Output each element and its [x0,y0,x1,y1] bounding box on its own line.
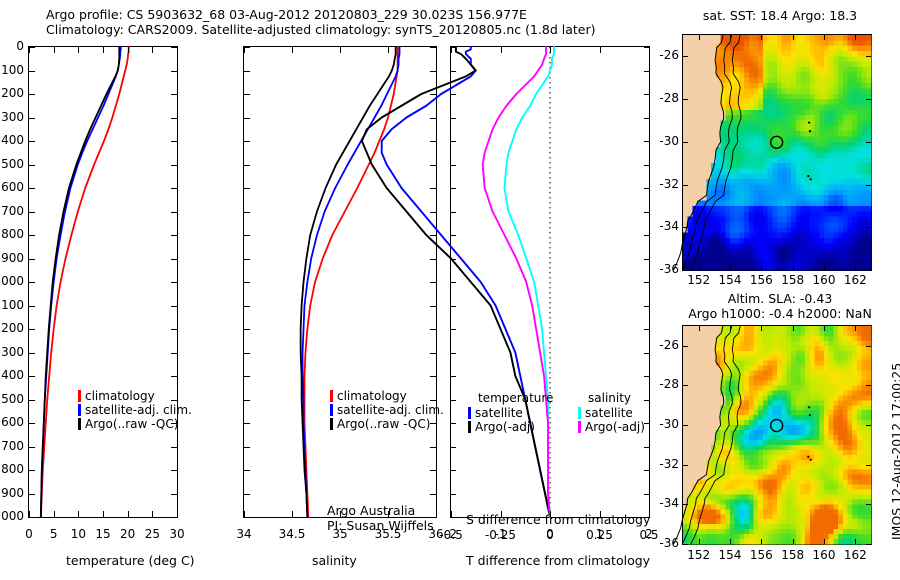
axis-tick-mark [244,306,250,307]
axis-tick-mark [600,511,601,517]
axis-tick-label: 34.5 [279,527,306,541]
axis-tick-label: 1900 [0,486,24,500]
axis-tick-mark [177,511,178,517]
axis-tick-mark [244,400,250,401]
axis-tick-mark [793,326,794,331]
axis-tick-mark [761,539,762,544]
axis-tick-mark [244,494,250,495]
axis-tick-mark [644,329,649,330]
axis-tick-mark [730,35,731,40]
axis-tick-mark [244,423,250,424]
axis-tick-mark [644,517,649,518]
axis-tick-mark [29,165,35,166]
axis-tick-mark [824,265,825,270]
axis-tick-mark [244,470,250,471]
axis-tick-mark [866,465,871,466]
axis-tick-mark [54,511,55,517]
axis-tick-mark [78,47,79,53]
axis-tick-label: -32 [659,457,679,471]
axis-tick-mark [793,35,794,40]
axis-tick-label: -1 [495,527,507,541]
axis-tick-mark [644,94,649,95]
axis-tick-mark [430,212,436,213]
axis-tick-mark [29,188,35,189]
axis-tick-mark [430,306,436,307]
axis-tick-mark [430,400,436,401]
axis-tick-mark [501,511,502,517]
axis-tick-mark [600,47,601,53]
axis-tick-mark [244,447,250,448]
axis-tick-mark [855,35,856,40]
axis-tick-mark [430,423,436,424]
axis-tick-mark [683,425,688,426]
legend-color-swatch [78,404,81,416]
axis-tick-mark [29,423,35,424]
axis-tick-mark [644,235,649,236]
legend-color-swatch [468,421,471,433]
axis-tick-mark [451,141,456,142]
axis-tick-mark [29,494,35,495]
axis-tick-mark [244,329,250,330]
axis-tick-mark [244,118,250,119]
legend-item: satellite [468,406,535,420]
sst-map-title: sat. SST: 18.4 Argo: 18.3 [660,8,900,23]
axis-tick-mark [451,517,456,518]
axis-tick-mark [292,47,293,53]
axis-tick-mark [866,185,871,186]
axis-tick-mark [430,259,436,260]
axis-tick-label: -26 [659,338,679,352]
axis-tick-mark [451,47,456,48]
axis-tick-mark [292,511,293,517]
legend-color-swatch [330,418,333,430]
axis-tick-mark [644,400,649,401]
axis-tick-label: 1400 [0,368,24,382]
temperature-legend: climatologysatellite-adj. clim.Argo(..ra… [78,389,192,431]
axis-tick-mark [451,306,456,307]
legend-item-label: Argo(..raw -QC) [85,417,178,431]
axis-tick-label: 20 [120,527,135,541]
axis-tick-mark [78,511,79,517]
axis-tick-mark [451,329,456,330]
sla-map-title-line2: Argo h1000: -0.4 h2000: NaN [660,306,900,321]
axis-tick-mark [644,282,649,283]
axis-tick-mark [866,142,871,143]
difference-s-axis-label: S difference from climatology [466,512,650,527]
axis-tick-mark [855,539,856,544]
axis-tick-mark [644,212,649,213]
axis-tick-mark [451,165,456,166]
axis-tick-mark [29,259,35,260]
axis-tick-mark [855,326,856,331]
axis-tick-mark [430,470,436,471]
axis-tick-mark [550,511,551,517]
axis-tick-label: -28 [659,377,679,391]
axis-tick-label: 15 [95,527,110,541]
axis-tick-mark [244,94,250,95]
legend-item-label: satellite-adj. clim. [337,403,444,417]
axis-tick-mark [730,539,731,544]
axis-tick-label: 700 [1,204,24,218]
axis-tick-mark [644,71,649,72]
axis-tick-mark [54,47,55,53]
axis-tick-mark [128,47,129,53]
axis-tick-label: -36 [659,536,679,550]
axis-tick-label: 5 [50,527,58,541]
axis-tick-mark [824,539,825,544]
axis-tick-label: 158 [781,273,804,287]
axis-tick-mark [244,71,250,72]
legend-item: Argo(..raw -QC) [330,417,444,431]
axis-tick-mark [430,282,436,283]
axis-tick-mark [244,376,250,377]
axis-tick-mark [824,326,825,331]
axis-tick-mark [430,517,436,518]
axis-tick-mark [550,47,551,53]
axis-tick-mark [451,118,456,119]
axis-tick-label: 300 [1,110,24,124]
axis-tick-label: 100 [1,63,24,77]
axis-tick-mark [683,270,688,271]
axis-tick-mark [451,447,456,448]
axis-tick-mark [171,282,177,283]
axis-tick-mark [644,306,649,307]
axis-tick-mark [171,259,177,260]
axis-tick-label: 162 [844,273,867,287]
axis-tick-mark [501,47,502,53]
axis-tick-label: 152 [687,548,710,562]
axis-tick-mark [171,376,177,377]
axis-tick-mark [451,282,456,283]
axis-tick-mark [866,346,871,347]
legend-item: satellite-adj. clim. [330,403,444,417]
figure-title-line1: Argo profile: CS 5903632_68 03-Aug-2012 … [46,7,527,22]
axis-tick-mark [244,165,250,166]
axis-tick-mark [793,265,794,270]
legend-item: Argo(-adj) [468,420,535,434]
legend-item-label: climatology [337,389,407,403]
temperature-x-axis-label: temperature (deg C) [66,553,195,568]
axis-tick-mark [451,353,456,354]
axis-tick-mark [244,259,250,260]
axis-tick-mark [644,494,649,495]
axis-tick-mark [152,511,153,517]
axis-tick-mark [244,511,245,517]
axis-tick-mark [644,141,649,142]
axis-tick-mark [388,47,389,53]
sst-map [682,34,872,271]
axis-tick-label: 160 [813,548,836,562]
legend-color-swatch [78,390,81,402]
axis-tick-mark [683,465,688,466]
axis-tick-label: 1300 [0,345,24,359]
salinity-legend: climatologysatellite-adj. clim.Argo(..ra… [330,389,444,431]
axis-tick-label: 1100 [0,298,24,312]
axis-tick-mark [430,118,436,119]
axis-tick-label: 400 [1,133,24,147]
axis-tick-mark [699,35,700,40]
axis-tick-mark [29,94,35,95]
legend-item: climatology [78,389,192,403]
axis-tick-mark [793,539,794,544]
axis-tick-mark [644,47,649,48]
axis-tick-mark [171,306,177,307]
imos-timestamp: IMOS 12-Aug-2012 17:00:25 [889,363,900,540]
axis-tick-mark [761,35,762,40]
axis-tick-label: 154 [719,548,742,562]
axis-tick-mark [171,94,177,95]
temperature-curves [29,47,177,517]
axis-tick-mark [430,353,436,354]
axis-tick-mark [244,282,250,283]
axis-tick-mark [171,188,177,189]
axis-tick-label: -26 [659,48,679,62]
axis-tick-mark [29,235,35,236]
axis-tick-mark [29,400,35,401]
legend-item-label: satellite-adj. clim. [85,403,192,417]
axis-tick-label: 1500 [0,392,24,406]
difference-curves [451,47,649,517]
axis-tick-mark [29,118,35,119]
legend-item-label: satellite [585,406,633,420]
axis-tick-mark [683,385,688,386]
axis-tick-mark [644,353,649,354]
legend-item-label: Argo(..raw -QC) [337,417,430,431]
axis-tick-mark [866,504,871,505]
legend-color-swatch [578,421,581,433]
axis-tick-mark [128,511,129,517]
axis-tick-label: 1 [596,527,604,541]
axis-tick-mark [730,265,731,270]
axis-tick-mark [866,544,871,545]
axis-tick-label: 158 [781,548,804,562]
axis-tick-mark [436,47,437,53]
axis-tick-label: 900 [1,251,24,265]
axis-tick-mark [244,517,250,518]
axis-tick-mark [451,376,456,377]
legend-color-swatch [78,418,81,430]
axis-tick-mark [171,400,177,401]
axis-tick-label: -28 [659,91,679,105]
difference-legend-heading-salinity: salinity [588,391,631,405]
axis-tick-mark [866,270,871,271]
axis-tick-label: 2 [645,527,653,541]
axis-tick-mark [683,227,688,228]
axis-tick-label: 160 [813,273,836,287]
axis-tick-mark [29,141,35,142]
axis-tick-label: 34 [236,527,251,541]
axis-tick-mark [644,188,649,189]
axis-tick-mark [761,265,762,270]
axis-tick-mark [171,141,177,142]
axis-tick-mark [152,47,153,53]
legend-color-swatch [468,407,471,419]
axis-tick-label: 154 [719,273,742,287]
legend-item-label: Argo(-adj) [585,420,645,434]
legend-item: satellite [578,406,645,420]
difference-legend-salinity: satelliteArgo(-adj) [578,406,645,434]
axis-tick-mark [29,282,35,283]
axis-tick-label: 2000 [0,509,24,523]
axis-tick-label: 500 [1,157,24,171]
legend-item-label: climatology [85,389,155,403]
axis-tick-mark [430,329,436,330]
axis-tick-label: 1700 [0,439,24,453]
difference-legend-temperature: satelliteArgo(-adj) [468,406,535,434]
sst-field [683,35,871,270]
axis-tick-mark [430,141,436,142]
axis-tick-mark [388,511,389,517]
axis-tick-label: 152 [687,273,710,287]
axis-tick-label: 0 [16,39,24,53]
legend-color-swatch [330,404,333,416]
axis-tick-label: -30 [659,417,679,431]
legend-color-swatch [578,407,581,419]
axis-tick-mark [29,212,35,213]
axis-tick-mark [436,511,437,517]
axis-tick-mark [644,470,649,471]
axis-tick-mark [451,188,456,189]
axis-tick-mark [430,94,436,95]
axis-tick-mark [824,35,825,40]
axis-tick-mark [430,447,436,448]
axis-tick-mark [171,71,177,72]
axis-tick-mark [171,235,177,236]
axis-tick-label: 156 [750,548,773,562]
axis-tick-mark [430,188,436,189]
axis-tick-mark [451,71,456,72]
axis-tick-mark [451,94,456,95]
axis-tick-mark [430,165,436,166]
axis-tick-mark [244,188,250,189]
axis-tick-mark [29,511,30,517]
axis-tick-label: 1000 [0,274,24,288]
axis-tick-mark [644,376,649,377]
axis-tick-mark [649,511,650,517]
axis-tick-mark [430,235,436,236]
axis-tick-mark [29,376,35,377]
axis-tick-label: 600 [1,180,24,194]
axis-tick-mark [855,265,856,270]
axis-tick-label: -36 [659,262,679,276]
axis-tick-mark [649,47,650,53]
axis-tick-mark [730,326,731,331]
axis-tick-mark [171,517,177,518]
axis-tick-mark [171,353,177,354]
sla-map [682,325,872,545]
axis-tick-mark [340,511,341,517]
axis-tick-mark [29,353,35,354]
axis-tick-label: 30 [169,527,184,541]
legend-item: climatology [330,389,444,403]
axis-tick-mark [171,447,177,448]
axis-tick-label: 25 [145,527,160,541]
axis-tick-mark [171,423,177,424]
axis-tick-mark [683,185,688,186]
salinity-credit-line2: PI: Susan Wijffels [327,518,434,533]
axis-tick-label: 156 [750,273,773,287]
legend-item-label: Argo(-adj) [475,420,535,434]
axis-tick-mark [103,511,104,517]
sla-field [683,326,871,544]
axis-tick-mark [451,494,456,495]
axis-tick-mark [171,212,177,213]
axis-tick-mark [761,326,762,331]
sla-map-title-line1: Altim. SLA: -0.43 [660,291,900,306]
axis-tick-label: 800 [1,227,24,241]
legend-item-label: satellite [475,406,523,420]
axis-tick-mark [699,539,700,544]
axis-tick-mark [644,165,649,166]
axis-tick-label: 200 [1,86,24,100]
axis-tick-mark [430,494,436,495]
axis-tick-mark [699,265,700,270]
axis-tick-mark [451,259,456,260]
axis-tick-mark [29,47,30,53]
axis-tick-mark [451,470,456,471]
axis-tick-mark [451,400,456,401]
axis-tick-mark [866,99,871,100]
axis-tick-label: 10 [71,527,86,541]
axis-tick-mark [866,227,871,228]
axis-tick-mark [683,504,688,505]
axis-tick-mark [340,47,341,53]
axis-tick-label: 1600 [0,415,24,429]
axis-tick-mark [430,376,436,377]
axis-tick-mark [644,423,649,424]
axis-tick-mark [177,47,178,53]
difference-profile-plot [450,46,650,518]
axis-tick-label: 0 [546,527,554,541]
axis-tick-mark [683,56,688,57]
axis-tick-label: -30 [659,134,679,148]
axis-tick-mark [171,165,177,166]
axis-tick-mark [244,235,250,236]
legend-item: Argo(..raw -QC) [78,417,192,431]
axis-tick-mark [244,353,250,354]
difference-t-axis-label: T difference from climatology [466,553,650,568]
axis-tick-mark [171,470,177,471]
axis-tick-mark [29,329,35,330]
axis-tick-mark [171,494,177,495]
axis-tick-mark [683,99,688,100]
axis-tick-label: -34 [659,496,679,510]
axis-tick-mark [451,212,456,213]
axis-tick-mark [683,544,688,545]
legend-color-swatch [330,390,333,402]
axis-tick-mark [683,142,688,143]
axis-tick-label: 1800 [0,462,24,476]
salinity-x-axis-label: salinity [312,553,357,568]
axis-tick-mark [451,423,456,424]
axis-tick-label: -2 [445,527,457,541]
legend-item: satellite-adj. clim. [78,403,192,417]
axis-tick-label: 0 [25,527,33,541]
difference-legend-heading-temperature: temperature [478,391,553,405]
axis-tick-mark [699,326,700,331]
axis-tick-mark [103,47,104,53]
axis-tick-mark [866,56,871,57]
axis-tick-label: 162 [844,548,867,562]
legend-item: Argo(-adj) [578,420,645,434]
axis-tick-mark [644,259,649,260]
axis-tick-label: -34 [659,219,679,233]
axis-tick-mark [29,306,35,307]
axis-tick-mark [866,425,871,426]
axis-tick-mark [644,118,649,119]
axis-tick-label: -32 [659,177,679,191]
axis-tick-label: 1200 [0,321,24,335]
